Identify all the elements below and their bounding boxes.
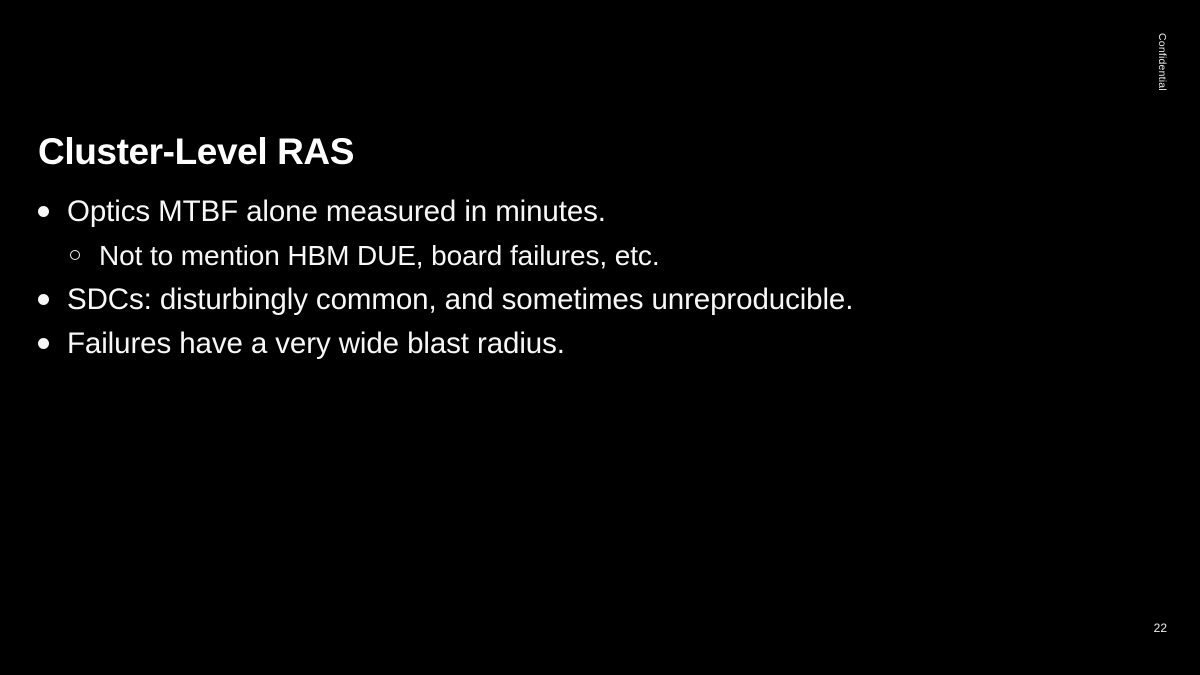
bullet-disc-icon — [38, 190, 67, 234]
bullet-circle-icon — [70, 234, 99, 278]
bullet-list: Optics MTBF alone measured in minutes. N… — [38, 190, 1138, 366]
list-item-label: Failures have a very wide blast radius. — [67, 322, 565, 366]
page-number: 22 — [1154, 622, 1167, 634]
list-item: Optics MTBF alone measured in minutes. — [38, 190, 1138, 234]
list-item: Failures have a very wide blast radius. — [38, 322, 1138, 366]
list-item-label: SDCs: disturbingly common, and sometimes… — [67, 278, 853, 322]
bullet-disc-icon — [38, 322, 67, 366]
list-item: SDCs: disturbingly common, and sometimes… — [38, 278, 1138, 322]
list-item-label: Optics MTBF alone measured in minutes. — [67, 190, 606, 234]
slide-canvas: Confidential Cluster-Level RAS Optics MT… — [0, 0, 1200, 675]
list-item-label: Not to mention HBM DUE, board failures, … — [99, 234, 660, 278]
list-item: Not to mention HBM DUE, board failures, … — [38, 234, 1138, 278]
bullet-disc-icon — [38, 278, 67, 322]
page-title: Cluster-Level RAS — [38, 131, 354, 174]
confidential-watermark: Confidential — [1157, 33, 1168, 91]
